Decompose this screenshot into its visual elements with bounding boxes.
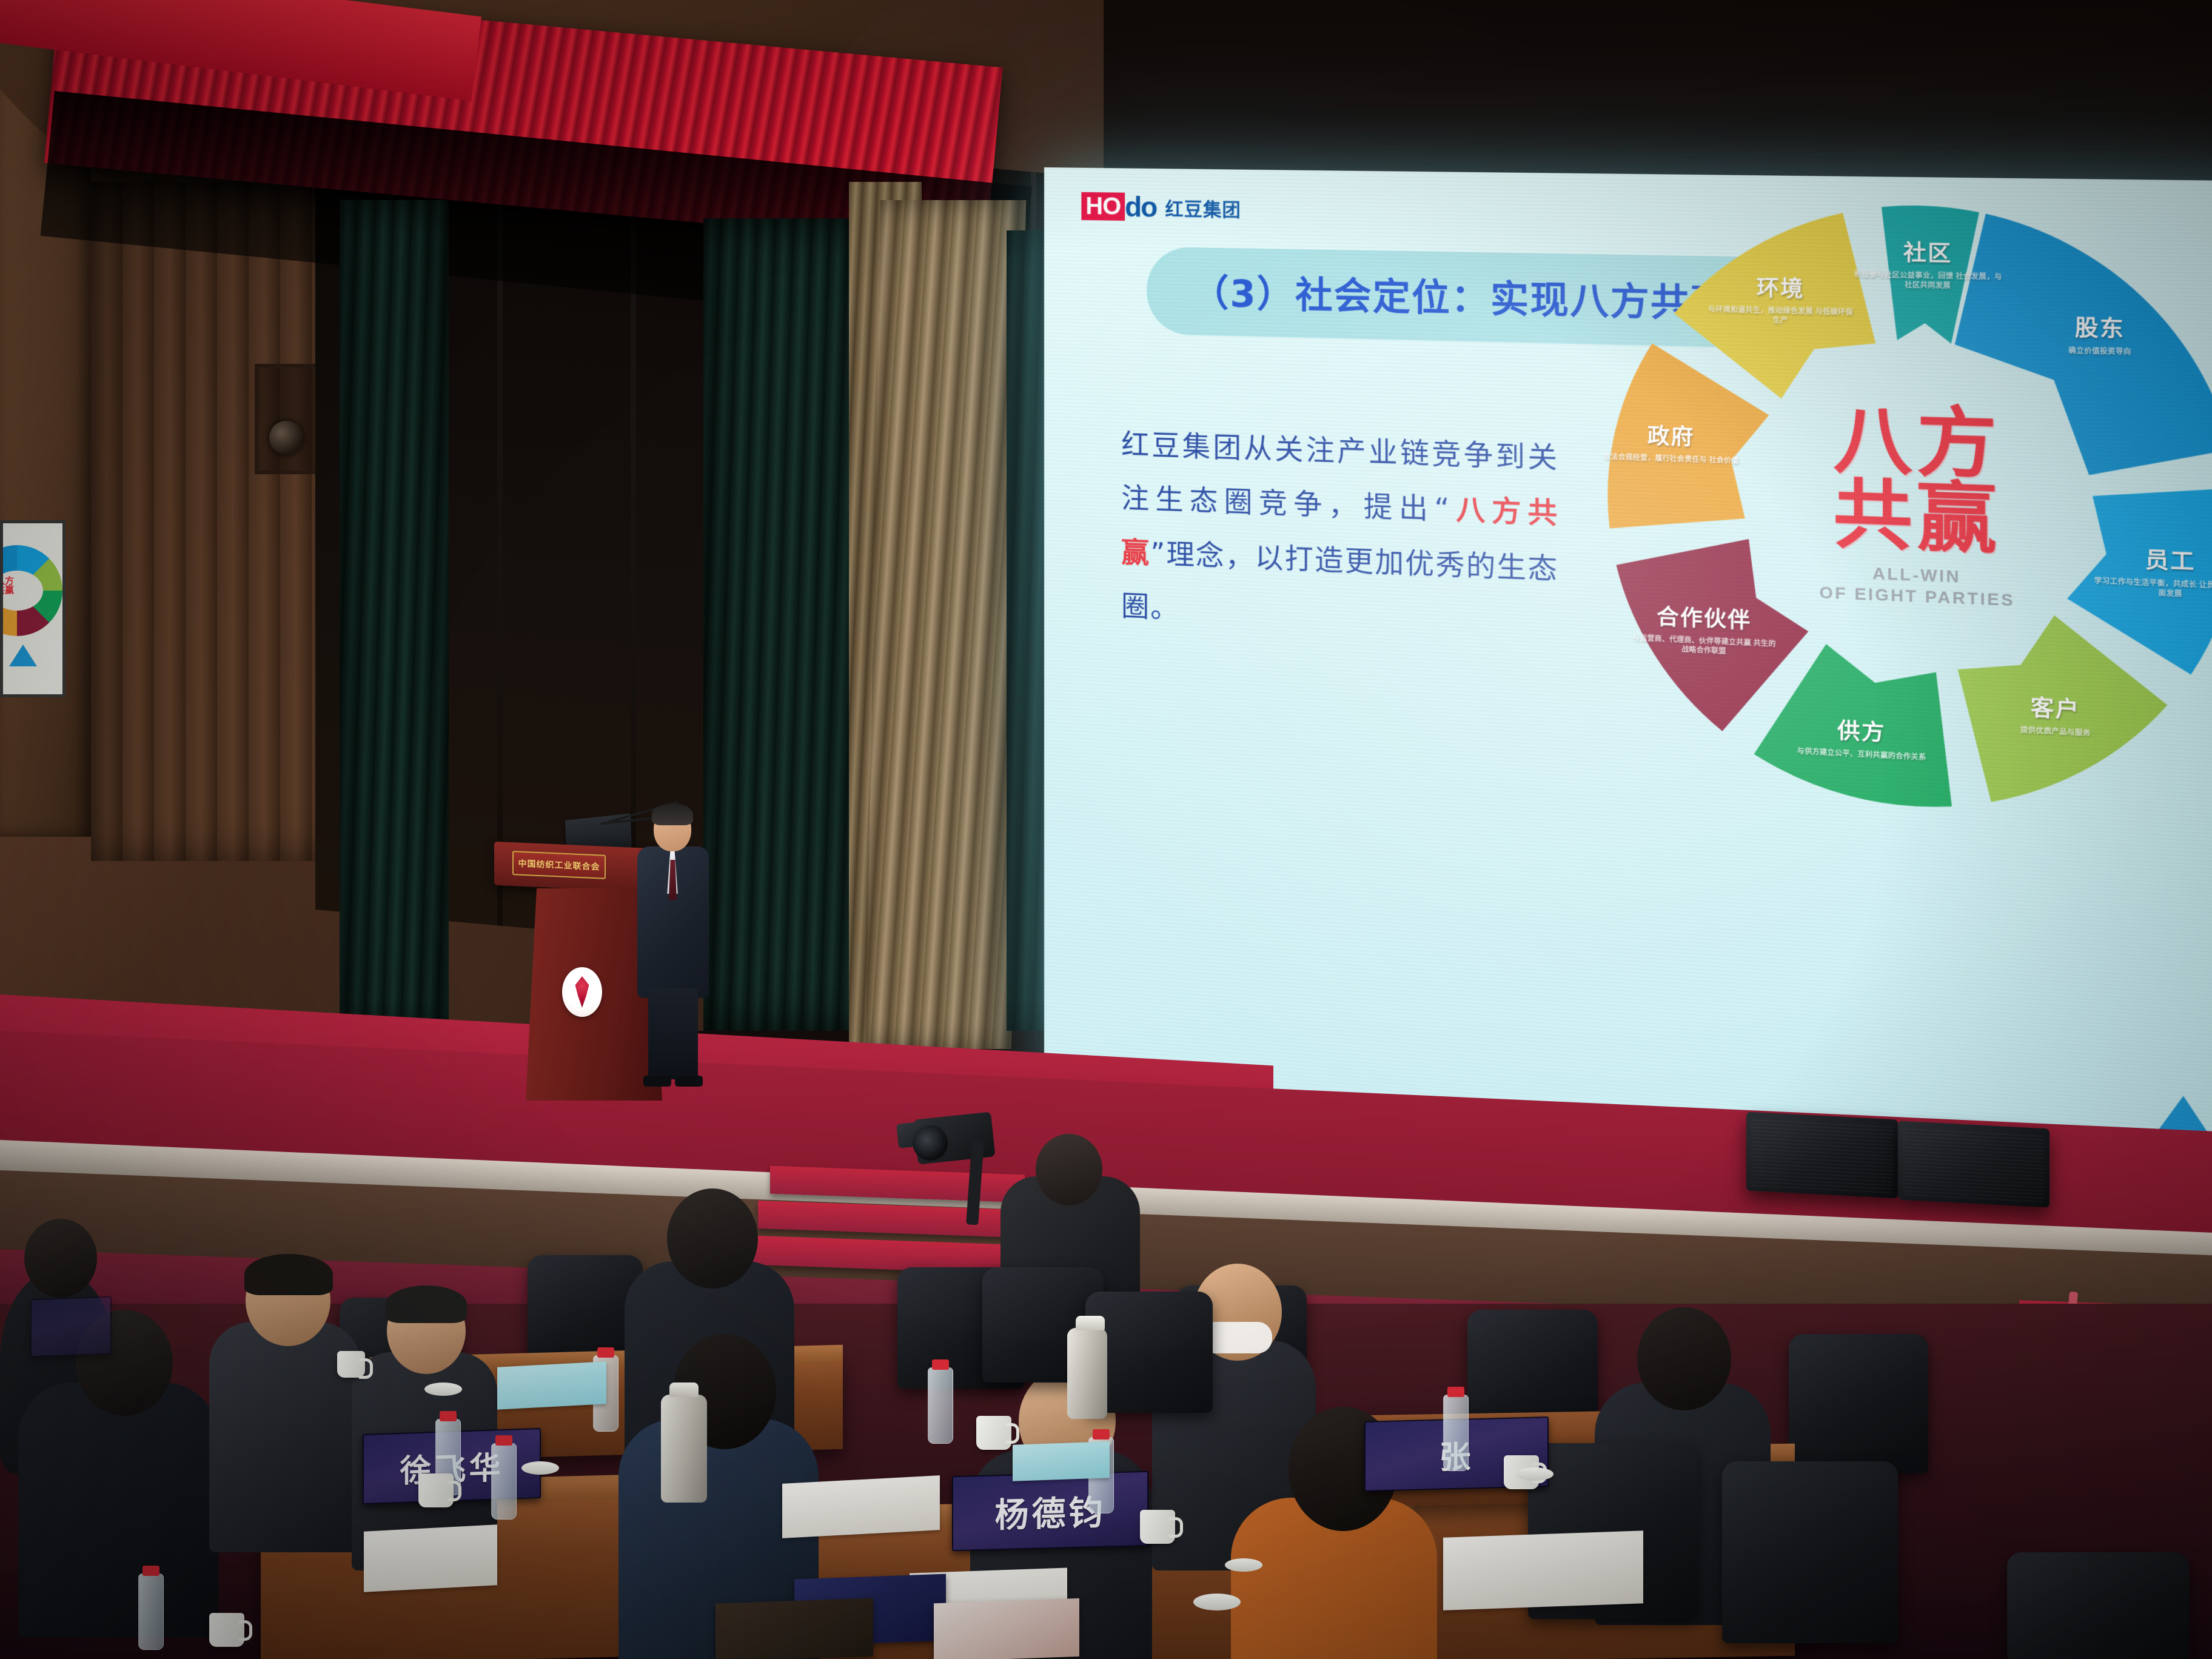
podium-plaque: 中国纺织工业联合会: [512, 851, 606, 879]
cup-lid: [1516, 1467, 1553, 1481]
water-bottle: [138, 1574, 164, 1650]
body-part-2: ”理念，以打造更加优秀的生态圈。: [1121, 536, 1558, 625]
notepad: [782, 1475, 940, 1538]
cup-lid: [1225, 1558, 1262, 1572]
donut-segment-5: [1607, 343, 1769, 534]
logo-mark: HO do: [1081, 192, 1156, 221]
presenter-legs: [648, 988, 698, 1079]
donut-segment-2: [1958, 611, 2168, 811]
confidence-monitor: 八方共赢: [0, 520, 65, 697]
tea-cup: [418, 1473, 454, 1507]
hodo-logo: HO do 红豆集团: [1081, 192, 1241, 223]
camera-operator-head: [1036, 1134, 1102, 1205]
name-card: 杨德钧: [952, 1471, 1148, 1551]
notepad: [497, 1361, 606, 1409]
water-bottle: [1443, 1395, 1469, 1471]
stage-curtain-mid: [703, 218, 873, 1031]
brochure: [934, 1598, 1079, 1659]
notepad: [1013, 1441, 1110, 1481]
tea-cup: [337, 1351, 365, 1378]
thermos-flask: [1067, 1328, 1107, 1419]
camera-lens-icon: [913, 1125, 948, 1161]
cup-lid: [1193, 1594, 1241, 1610]
notepad: [1443, 1530, 1643, 1610]
donut-segment-3: [1754, 641, 1952, 808]
notepad: [364, 1524, 497, 1592]
cup-lid: [424, 1382, 462, 1396]
pa-speaker-right: [1898, 1121, 2049, 1207]
all-win-donut-chart: 股东确立价值投资导向员工学习工作与生活平衡，共成长 让员工得到全面发展客户提供优…: [1605, 199, 2212, 826]
name-card: [30, 1296, 112, 1358]
led-screen: HO do 红豆集团 （3）社会定位：实现八方共赢 红豆集团从关注产业链竞争到关…: [1044, 167, 2212, 1201]
auditorium-scene: 八方共赢 HO do 红豆集团 （3）社会定位：实现八方共赢 红豆集团从关注产业…: [0, 0, 2212, 1659]
donut-center-label: 八方 共赢 ALL-WIN OF EIGHT PARTIES: [1776, 401, 2060, 612]
tea-cup: [1140, 1510, 1175, 1544]
cup-lid: [521, 1461, 559, 1475]
thermos-flask: [661, 1395, 707, 1503]
presentation-slide: HO do 红豆集团 （3）社会定位：实现八方共赢 红豆集团从关注产业链竞争到关…: [1044, 167, 2212, 1201]
pa-speaker-left: [1746, 1111, 1898, 1198]
center-cn-line2: 共赢: [1776, 475, 2060, 560]
red-emblem-icon: [562, 967, 602, 1017]
stage-lamp-icon: [269, 421, 303, 455]
tea-cup: [976, 1416, 1011, 1450]
audience-chair: [1789, 1334, 1928, 1473]
audience-chair: [1722, 1461, 1898, 1643]
brochure: [716, 1598, 873, 1659]
logo-brand-cn: 红豆集团: [1165, 194, 1241, 222]
audience-chair: [2007, 1552, 2189, 1659]
logo-ho-badge: HO: [1081, 192, 1125, 221]
water-bottle: [491, 1443, 517, 1520]
logo-do-text: do: [1125, 193, 1156, 221]
donut-segment-6: [1674, 210, 1875, 401]
slide-body-text: 红豆集团从关注产业链竞争到关注生态圈竞争，提出“八方共赢”理念，以打造更加优秀的…: [1121, 417, 1558, 652]
podium-plaque-text: 中国纺织工业联合会: [518, 857, 600, 873]
tea-cup: [209, 1613, 244, 1647]
presenter-shoe: [643, 1076, 671, 1087]
presenter-hair: [652, 803, 693, 825]
stage-curtain-gold: [866, 200, 1026, 1049]
water-bottle: [928, 1367, 953, 1444]
stage-curtain-left: [340, 200, 449, 1037]
presenter-shoe: [675, 1076, 703, 1087]
presenter: [634, 806, 712, 1091]
